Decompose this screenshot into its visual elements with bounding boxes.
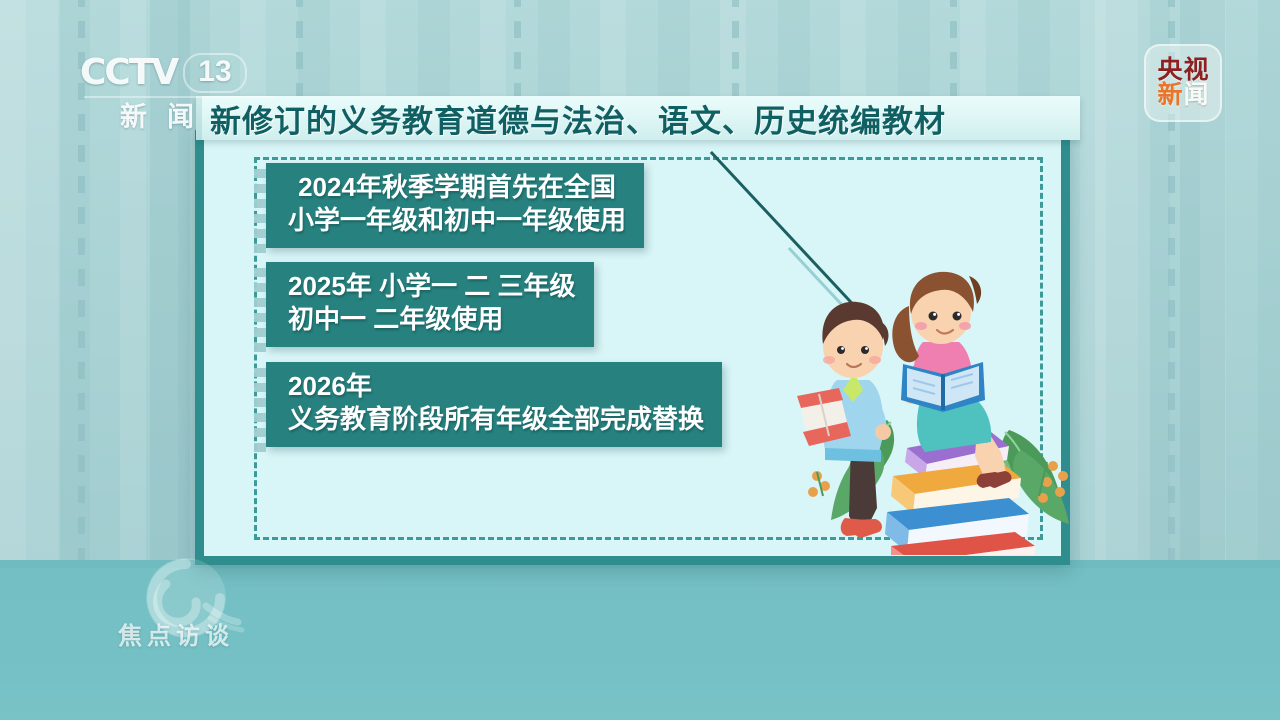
timeline-item-line2: 小学一年级和初中一年级使用	[288, 204, 626, 237]
corner-logo-line-1: 央 视	[1157, 58, 1208, 83]
cctv-wordmark: CCTV	[80, 52, 177, 93]
timeline-item-shadow-stripes	[254, 268, 266, 355]
corner-logo-char-wen: 闻	[1184, 83, 1209, 108]
headline-banner: 新修订的义务教育道德与法治、语文、历史统编教材	[196, 96, 1080, 140]
cctv-logo-row: CCTV 13	[80, 52, 247, 93]
timeline-item-shadow-stripes	[254, 368, 266, 455]
timeline-item-line2: 义务教育阶段所有年级全部完成替换	[288, 403, 704, 436]
timeline-item-line1: 2025年 小学一 二 三年级	[288, 270, 576, 303]
corner-logo-char-xin: 新	[1157, 83, 1182, 108]
program-watermark: 焦点访谈	[110, 558, 350, 663]
timeline-item-2026: 2026年 义务教育阶段所有年级全部完成替换	[266, 362, 722, 447]
timeline-item-line2: 初中一 二年级使用	[288, 303, 576, 336]
timeline-item-line1: 2026年	[288, 370, 704, 403]
timeline-item-2025: 2025年 小学一 二 三年级 初中一 二年级使用	[266, 262, 594, 347]
students-reading-illustration	[795, 270, 1090, 555]
timeline-item-2024: 2024年秋季学期首先在全国 小学一年级和初中一年级使用	[266, 163, 644, 248]
cctv-news-corner-logo: 央 视 新 闻	[1144, 44, 1222, 122]
corner-logo-char-yang: 央	[1157, 58, 1182, 83]
cctv-logo-subtitle: 新闻	[120, 95, 247, 134]
timeline-item-line1: 2024年秋季学期首先在全国	[288, 171, 626, 204]
page-title: 新修订的义务教育道德与法治、语文、历史统编教材	[210, 96, 946, 141]
cctv-channel-number: 13	[183, 53, 246, 93]
timeline-item-shadow-stripes	[254, 169, 266, 256]
broadcast-frame: 新修订的义务教育道德与法治、语文、历史统编教材 2024年秋季学期首先在全国 小…	[0, 0, 1280, 720]
program-name: 焦点访谈	[118, 616, 234, 651]
corner-logo-line-2: 新 闻	[1157, 83, 1208, 108]
corner-logo-char-shi: 视	[1184, 58, 1209, 83]
cctv-logo-underline	[84, 96, 274, 98]
cctv-channel-logo: CCTV 13 新闻	[80, 52, 247, 134]
